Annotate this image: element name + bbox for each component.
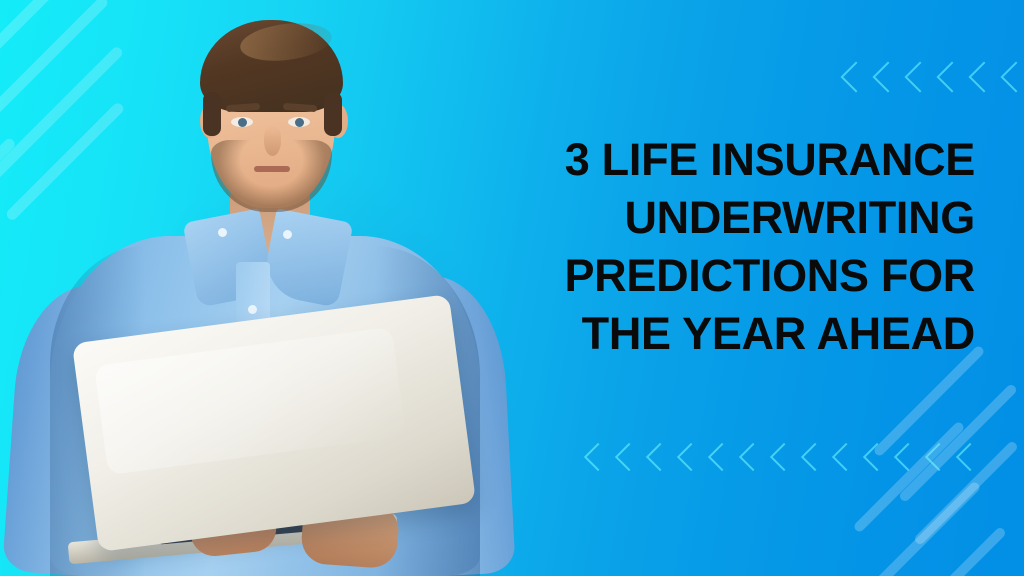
collar-left: [183, 208, 276, 307]
chevron-left-icon: [836, 437, 859, 477]
ear-right: [328, 104, 348, 138]
eye-right: [288, 117, 310, 127]
chevron-left-icon: [941, 55, 961, 99]
chevron-left-icon: [909, 55, 929, 99]
chevron-left-icon: [960, 437, 983, 477]
laptop-lid: [72, 294, 476, 552]
chevron-left-icon: [877, 55, 897, 99]
chevron-left-icon: [681, 437, 704, 477]
chevron-left-icon: [650, 437, 673, 477]
nose: [264, 126, 281, 156]
iris-left: [238, 118, 247, 127]
promo-banner: 3 LIFE INSURANCE UNDERWRITING PREDICTION…: [0, 0, 1024, 576]
head: [207, 40, 335, 208]
right-arm: [360, 273, 516, 576]
chevron-left-icon: [774, 437, 797, 477]
finger: [312, 512, 328, 552]
mouth: [254, 166, 290, 172]
eye-left: [231, 117, 253, 127]
finger: [372, 512, 388, 552]
shirt-placket: [236, 262, 270, 372]
finger: [332, 512, 348, 552]
subject-photo: [40, 0, 560, 576]
chevron-left-icon: [805, 437, 828, 477]
chevron-left-icon: [588, 437, 611, 477]
chevron-row-top-right: [845, 55, 1024, 99]
eyebrow-left: [226, 103, 260, 112]
page-title: 3 LIFE INSURANCE UNDERWRITING PREDICTION…: [505, 131, 975, 363]
chevron-left-icon: [845, 55, 865, 99]
sideburn-right: [324, 92, 342, 136]
neck: [230, 180, 310, 260]
shirt-shading-left: [50, 246, 145, 576]
hair: [200, 20, 343, 112]
shirt-shading-right: [375, 246, 480, 576]
iris-right: [295, 118, 304, 127]
left-arm: [2, 281, 172, 576]
finger: [352, 512, 368, 552]
laptop-keyboard-area: [158, 513, 309, 544]
shirt-button: [248, 305, 257, 314]
laptop-base: [68, 514, 399, 565]
ear-left: [200, 104, 220, 138]
chevron-left-icon: [867, 437, 890, 477]
collar-right: [261, 208, 354, 307]
chevron-left-icon: [973, 55, 993, 99]
chevron-left-icon: [929, 437, 952, 477]
chevron-left-icon: [619, 437, 642, 477]
collar-button-right: [283, 230, 292, 239]
sideburn-left: [203, 92, 221, 136]
beard: [211, 140, 332, 212]
chevron-left-icon: [743, 437, 766, 477]
chevron-row-bottom: [588, 437, 983, 477]
subject-shadow: [70, 156, 530, 576]
chevron-left-icon: [712, 437, 735, 477]
shirt: [50, 236, 480, 576]
chevron-left-icon: [1005, 55, 1024, 99]
hand-right: [300, 501, 400, 570]
diagonal-stripes-top-left-icon: [0, 0, 240, 250]
chevron-left-icon: [898, 437, 921, 477]
eyebrow-right: [283, 103, 317, 112]
laptop-lid-highlight: [94, 327, 406, 475]
hair-highlight: [238, 19, 334, 66]
collar-button-left: [218, 228, 227, 237]
hand-left: [187, 496, 278, 559]
diagonal-stripes-bottom-right-icon: [814, 386, 1024, 576]
